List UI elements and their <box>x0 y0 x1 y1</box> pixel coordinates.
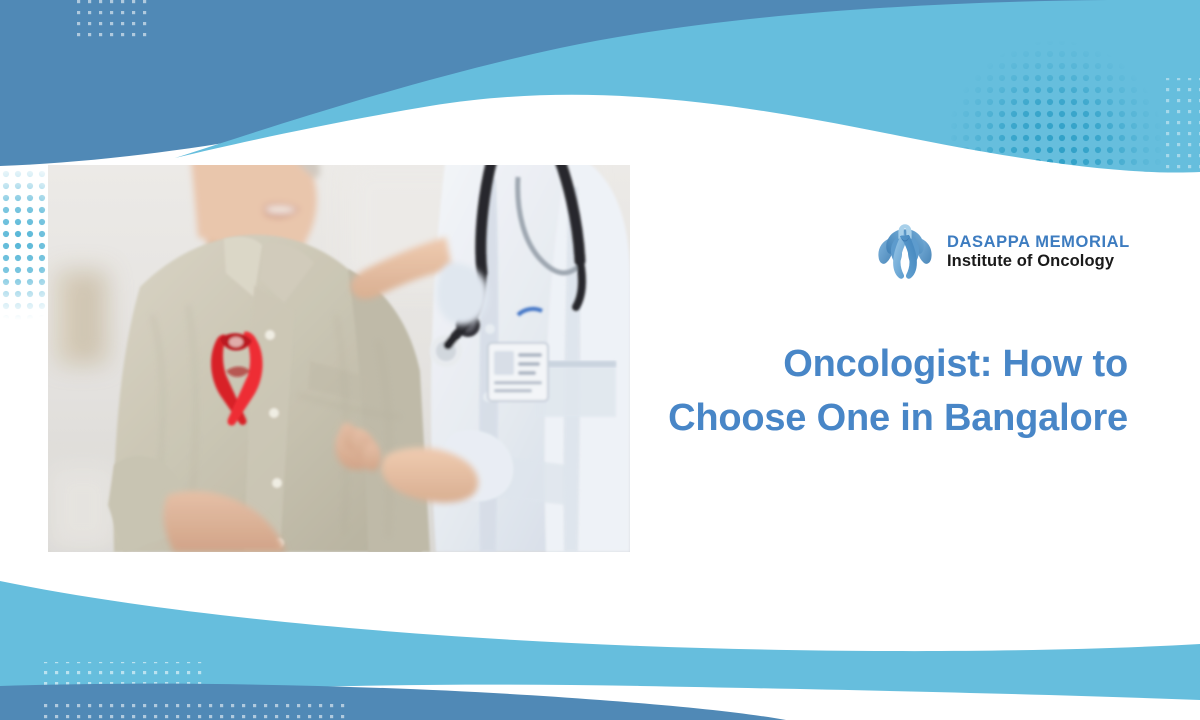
dot-grid-bottom-light <box>38 662 208 688</box>
bottom-light-blue-wave <box>0 581 1200 703</box>
dot-grid-right-edge <box>1163 78 1200 178</box>
doctor-and-patient-photo <box>48 165 630 552</box>
brand-logo: DASAPPA MEMORIAL Institute of Oncology <box>872 219 1124 285</box>
dot-grid-bottom-dark <box>38 697 348 720</box>
dot-grid-top-left <box>72 0 148 38</box>
headline-line-2: Choose One in Bangalore <box>600 392 1128 446</box>
banner-root: DASAPPA MEMORIAL Institute of Oncology O… <box>0 0 1200 720</box>
logo-line-2: Institute of Oncology <box>947 252 1130 271</box>
top-left-blue-wave <box>0 0 1200 166</box>
lotus-ribbon-logo-mark <box>872 219 938 285</box>
logo-line-1: DASAPPA MEMORIAL <box>947 233 1130 252</box>
headline-line-1: Oncologist: How to <box>600 338 1128 392</box>
page-title: Oncologist: How to Choose One in Bangalo… <box>600 338 1128 446</box>
logo-wordmark: DASAPPA MEMORIAL Institute of Oncology <box>947 233 1130 272</box>
photo-illustration <box>48 165 630 552</box>
bottom-dark-blue-wave <box>0 684 786 720</box>
